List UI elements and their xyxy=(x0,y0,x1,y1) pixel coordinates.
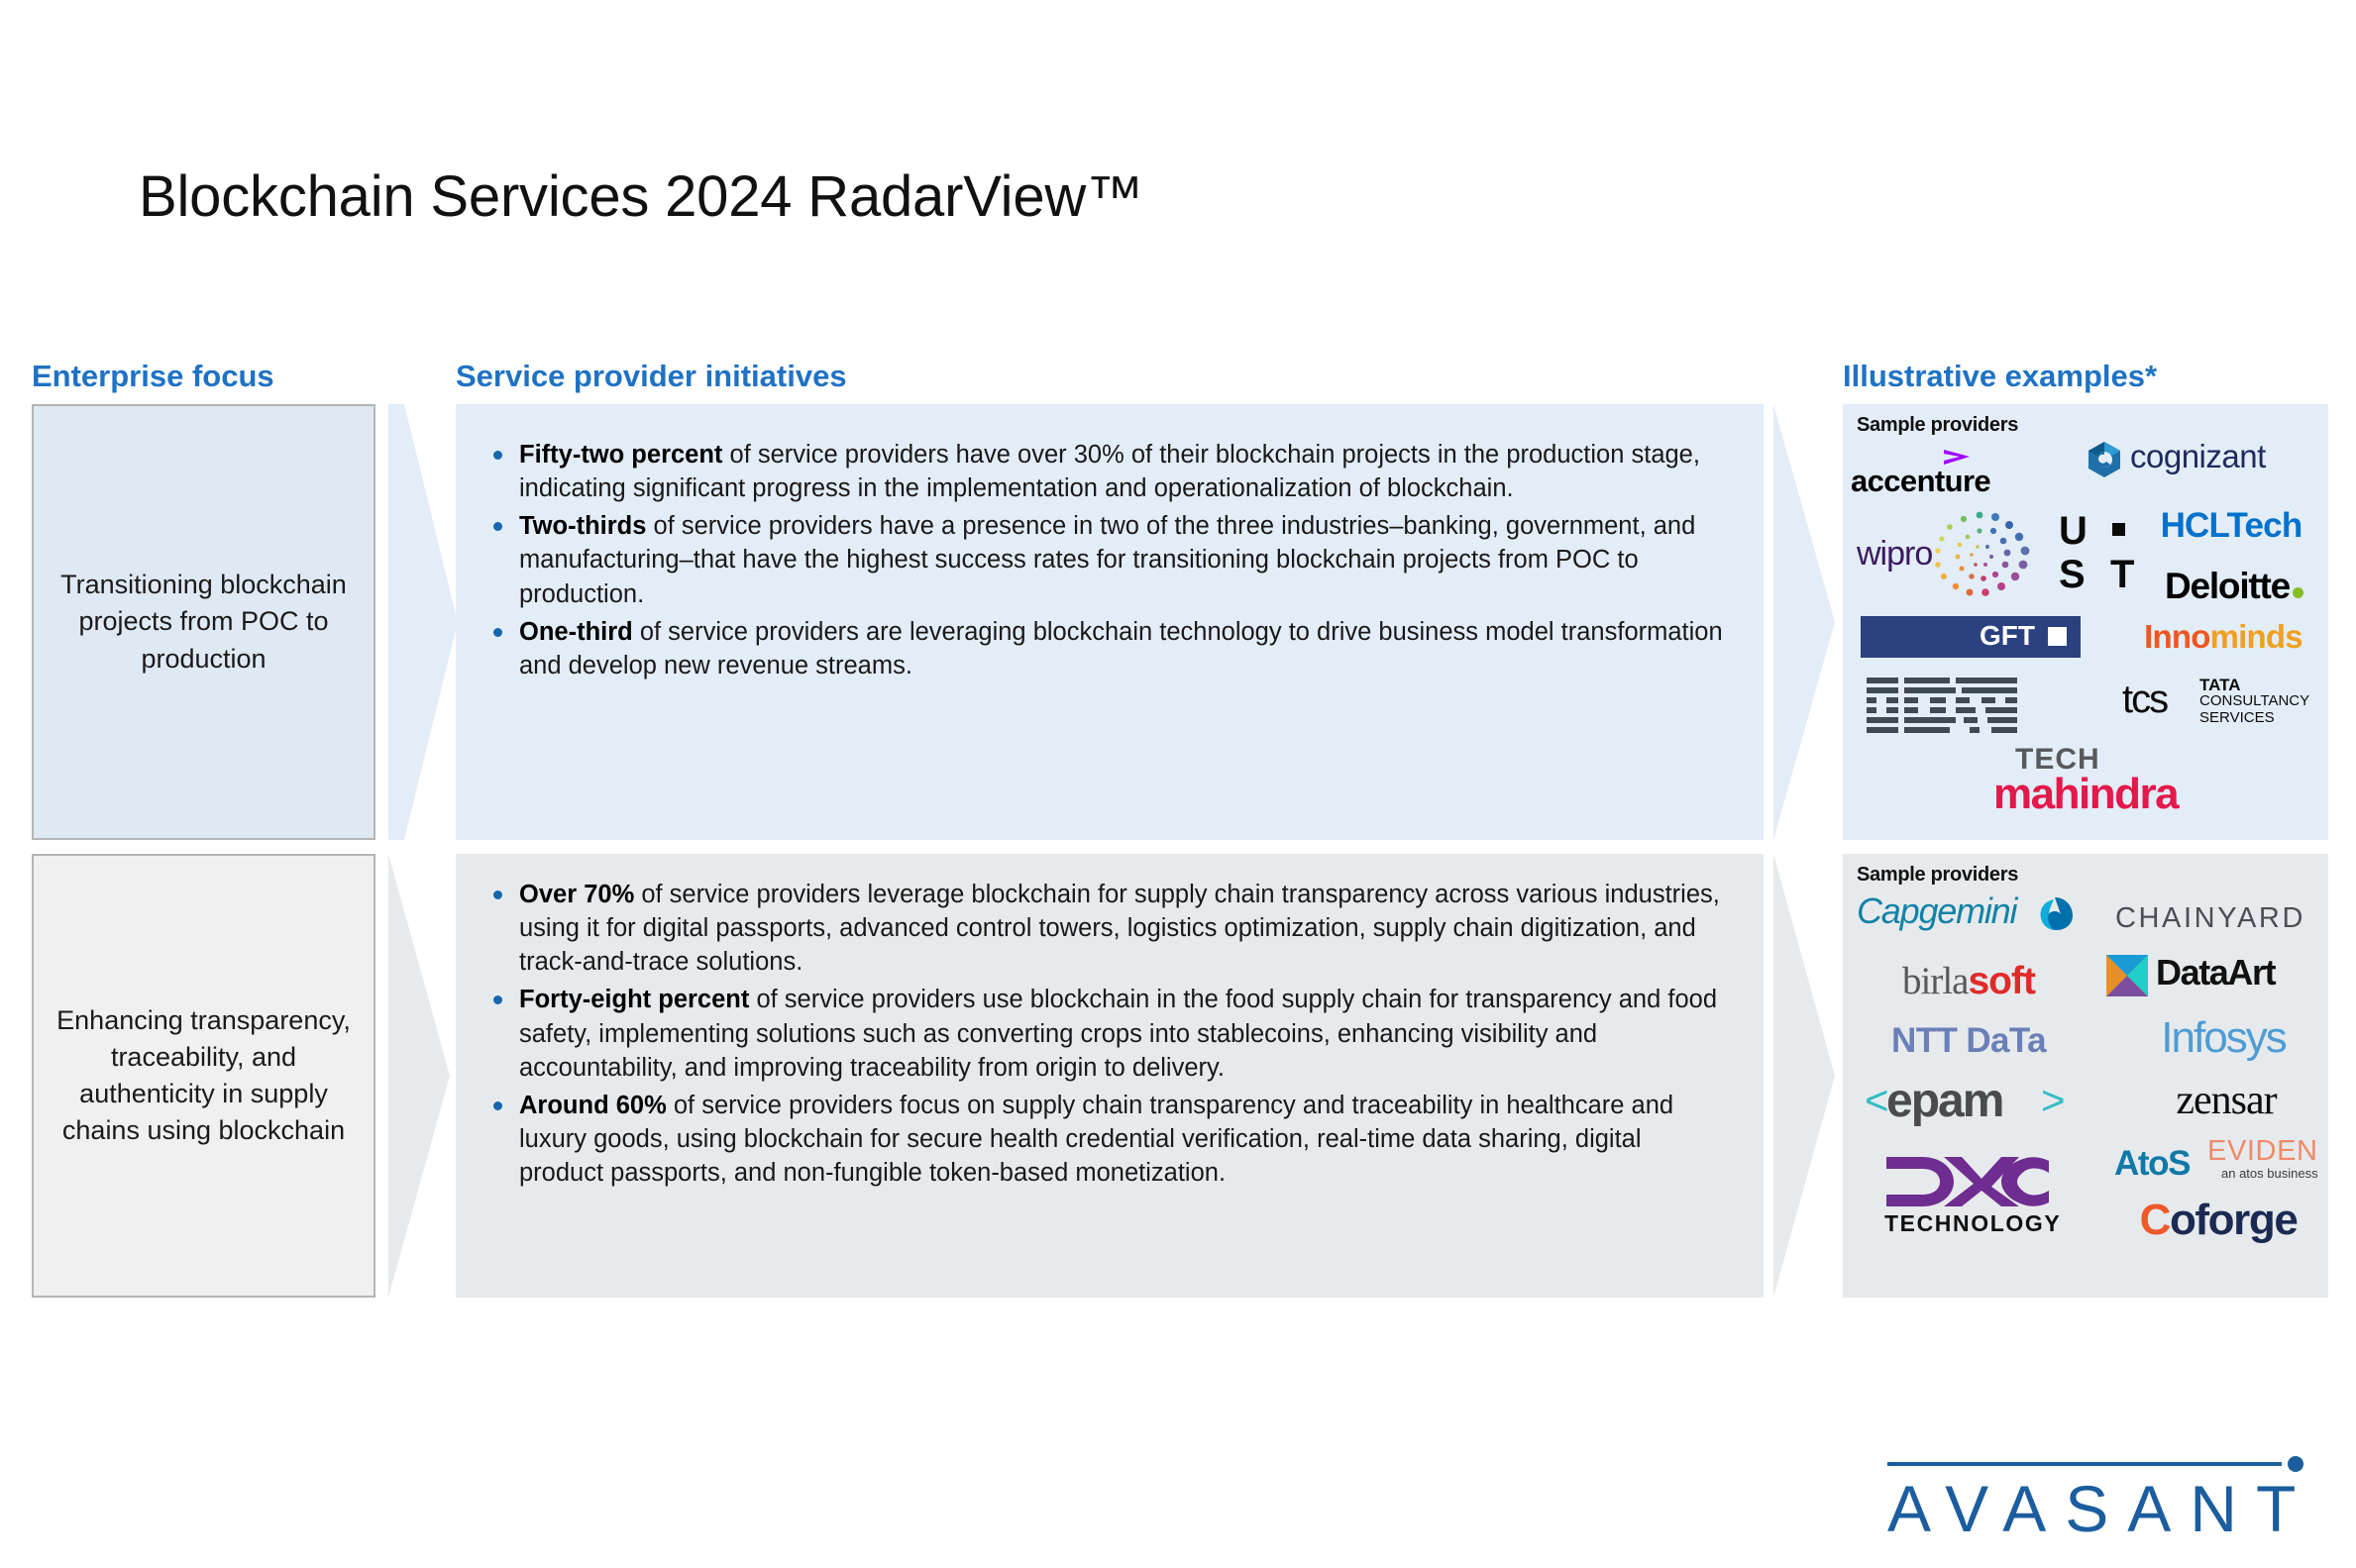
page-title: Blockchain Services 2024 RadarView™ xyxy=(139,163,1143,230)
logo-birlasoft: birlasoft xyxy=(1869,957,2069,1004)
bullet-lead: Fifty-two percent xyxy=(519,441,722,469)
column-header-enterprise-focus: Enterprise focus xyxy=(32,359,274,394)
bullet-text: of service providers have a presence in … xyxy=(519,512,1695,607)
bullet-text: of service providers are leveraging bloc… xyxy=(519,618,1723,679)
logo-eviden: EVIDEN an atos business xyxy=(2207,1137,2328,1187)
logo-zensar: zensar xyxy=(2128,1076,2324,1125)
logo-tech-mahindra: TECH mahindra xyxy=(1993,745,2281,828)
initiatives-list-2: Over 70% of service providers leverage b… xyxy=(478,878,1728,1190)
chevron-arrow-row2-right xyxy=(1769,854,1841,1298)
avasant-rule xyxy=(1887,1462,2282,1466)
enterprise-focus-box-1: Transitioning blockchain projects from P… xyxy=(32,404,375,840)
logo-atos: AtoS xyxy=(2090,1141,2213,1185)
list-item: Fifty-two percent of service providers h… xyxy=(478,438,1728,505)
list-item: One-third of service providers are lever… xyxy=(478,615,1728,682)
logo-tcs: tcs TATA CONSULTANCY SERVICES xyxy=(2122,672,2324,733)
logo-ibm xyxy=(1865,674,2023,737)
logo-coforge: Coforge xyxy=(2112,1195,2324,1246)
chevron-arrow-row2-left xyxy=(384,854,456,1298)
list-item: Forty-eight percent of service providers… xyxy=(478,983,1728,1084)
enterprise-focus-box-2: Enhancing transparency, traceability, an… xyxy=(32,854,375,1298)
illustrative-examples-panel-2: Sample providers Capgemini CHAINYARD xyxy=(1843,854,2328,1298)
logo-infosys: Infosys xyxy=(2124,1010,2322,1066)
enterprise-focus-text-1: Transitioning blockchain projects from P… xyxy=(54,567,354,678)
column-header-illustrative-examples: Illustrative examples* xyxy=(1843,359,2157,394)
logo-capgemini: Capgemini xyxy=(1857,891,2081,941)
column-header-service-provider-initiatives: Service provider initiatives xyxy=(456,359,847,394)
bullet-lead: Around 60% xyxy=(519,1092,667,1119)
initiatives-list-1: Fifty-two percent of service providers h… xyxy=(478,438,1728,682)
slide-canvas: Blockchain Services 2024 RadarView™ Ente… xyxy=(0,0,2356,1568)
logo-innominds: Innominds xyxy=(2124,614,2322,658)
initiatives-panel-1: Fifty-two percent of service providers h… xyxy=(456,404,1764,840)
logo-gft: GFT xyxy=(1861,616,2081,658)
logo-grid-2: Capgemini CHAINYARD birlasoft xyxy=(1843,854,2328,1298)
logo-deloitte: Deloitte xyxy=(2140,563,2328,608)
logo-dataart: DataArt xyxy=(2106,953,2322,1000)
list-item: Over 70% of service providers leverage b… xyxy=(478,878,1728,979)
bullet-lead: One-third xyxy=(519,618,633,646)
avasant-wordmark: AVASANT xyxy=(1887,1476,2313,1541)
logo-grid-1: accenture cognizant xyxy=(1843,404,2328,840)
bullet-text: of service providers leverage blockchain… xyxy=(519,881,1720,976)
bullet-text: of service providers focus on supply cha… xyxy=(519,1092,1673,1187)
enterprise-focus-text-2: Enhancing transparency, traceability, an… xyxy=(54,1002,354,1150)
chevron-arrow-row1-right xyxy=(1769,404,1841,840)
bullet-lead: Two-thirds xyxy=(519,512,646,540)
illustrative-examples-panel-1: Sample providers accenture xyxy=(1843,404,2328,840)
logo-chainyard: CHAINYARD xyxy=(2098,897,2322,939)
chevron-arrow-row1-left xyxy=(384,404,456,840)
logo-dxc-technology: TECHNOLOGY xyxy=(1873,1151,2067,1244)
logo-ntt-data: NTT DaTa xyxy=(1859,1018,2079,1062)
logo-accenture: accenture xyxy=(1851,446,2039,507)
avasant-logo: AVASANT xyxy=(1887,1454,2313,1549)
logo-hcltech: HCLTech xyxy=(2140,503,2322,547)
logo-wipro: wipro xyxy=(1857,507,2045,602)
avasant-dot-icon xyxy=(2288,1456,2303,1472)
logo-epam: epam < > xyxy=(1865,1078,2083,1133)
bullet-lead: Forty-eight percent xyxy=(519,986,749,1013)
bullet-lead: Over 70% xyxy=(519,881,634,908)
initiatives-panel-2: Over 70% of service providers leverage b… xyxy=(456,854,1764,1298)
list-item: Two-thirds of service providers have a p… xyxy=(478,509,1728,610)
logo-cognizant: cognizant xyxy=(2079,434,2320,487)
list-item: Around 60% of service providers focus on… xyxy=(478,1089,1728,1190)
